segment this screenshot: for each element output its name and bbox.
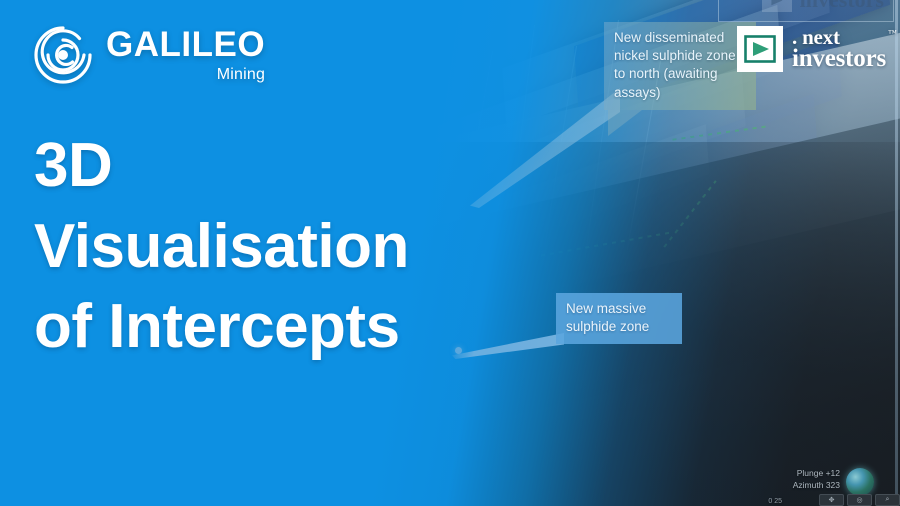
brand-tagline: Mining <box>217 67 265 83</box>
next-investors-wordmark: . next investors ™ <box>792 27 886 71</box>
callout-tail <box>608 110 642 136</box>
title-line-3: of Intercepts <box>34 287 574 368</box>
presentation-slide: Plunge +12 Azimuth 323 0 25 ✥ ◎ ⌕ New di… <box>0 0 900 506</box>
brand-name: GALILEO <box>106 27 265 62</box>
callout-disseminated-nickel-sulphide: New disseminated nickel sulphide zone to… <box>604 22 756 110</box>
galileo-wordmark: GALILEO Mining <box>106 27 265 83</box>
galileo-mining-logo: GALILEO Mining <box>32 24 265 86</box>
next-investors-line-2: investors <box>792 47 886 71</box>
trademark-symbol: ™ <box>888 29 897 38</box>
watermark-text: investors <box>800 0 884 11</box>
next-investors-logo: . next investors ™ <box>737 26 886 72</box>
title-line-2: Visualisation <box>34 207 574 288</box>
play-triangle-icon <box>737 26 783 72</box>
callout-disseminated-text: New disseminated nickel sulphide zone to… <box>614 30 736 100</box>
galileo-spiral-icon <box>32 24 94 86</box>
play-triangle-icon <box>762 0 792 12</box>
page-title: 3D Visualisation of Intercepts <box>34 126 574 368</box>
next-investors-watermark: investors <box>762 0 884 12</box>
title-line-1: 3D <box>34 126 574 207</box>
callout-massive-sulphide: New massive sulphide zone <box>556 293 682 344</box>
callout-massive-text: New massive sulphide zone <box>566 301 649 334</box>
